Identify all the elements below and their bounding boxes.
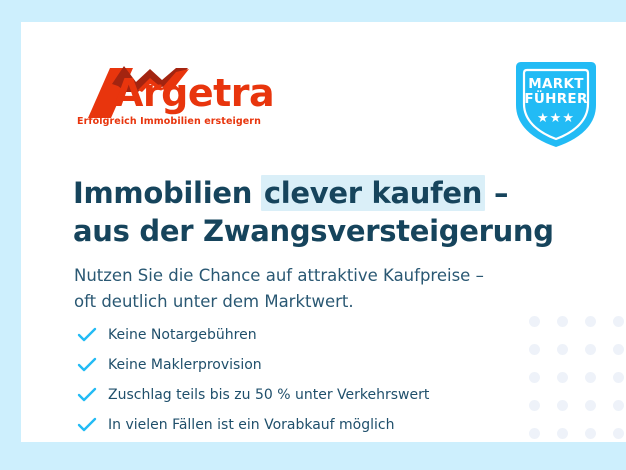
headline-line-1: Immobilien clever kaufen – bbox=[73, 175, 543, 212]
list-item: Keine Maklerprovision bbox=[77, 350, 517, 380]
dot bbox=[585, 344, 596, 355]
logo-wordmark: Argetra bbox=[114, 74, 274, 112]
dot bbox=[557, 344, 568, 355]
dot bbox=[529, 344, 540, 355]
dot bbox=[613, 428, 624, 439]
dot bbox=[529, 316, 540, 327]
list-item-label: In vielen Fällen ist ein Vorabkauf mögli… bbox=[103, 417, 395, 433]
benefits-list: Keine Notargebühren Keine Maklerprovisio… bbox=[77, 320, 517, 440]
dot bbox=[585, 316, 596, 327]
dot bbox=[557, 316, 568, 327]
dot bbox=[613, 316, 624, 327]
check-icon bbox=[77, 355, 103, 375]
check-icon bbox=[77, 385, 103, 405]
dot bbox=[557, 372, 568, 383]
dot bbox=[613, 400, 624, 411]
dot bbox=[585, 428, 596, 439]
subheadline-line-2: oft deutlich unter dem Marktwert. bbox=[74, 289, 554, 316]
list-item-label: Keine Notargebühren bbox=[103, 327, 257, 343]
dot bbox=[529, 428, 540, 439]
dot bbox=[529, 400, 540, 411]
dot bbox=[557, 400, 568, 411]
dot bbox=[529, 372, 540, 383]
subheadline: Nutzen Sie die Chance auf attraktive Kau… bbox=[74, 263, 554, 316]
argetra-logo[interactable]: Argetra Erfolgreich Immobilien ersteiger… bbox=[76, 66, 276, 134]
list-item-label: Zuschlag teils bis zu 50 % unter Verkehr… bbox=[103, 387, 429, 403]
headline-highlight: clever kaufen bbox=[261, 175, 485, 211]
check-icon bbox=[77, 415, 103, 435]
dot bbox=[557, 428, 568, 439]
dot bbox=[613, 372, 624, 383]
check-icon bbox=[77, 325, 103, 345]
dot-grid-decoration bbox=[520, 307, 626, 442]
markt-fuehrer-badge: MARKT FÜHRER ★★★ bbox=[508, 55, 604, 151]
list-item: In vielen Fällen ist ein Vorabkauf mögli… bbox=[77, 410, 517, 440]
headline-line-2: aus der Zwangsversteigerung bbox=[73, 213, 543, 250]
dot bbox=[613, 344, 624, 355]
logo-tagline: Erfolgreich Immobilien ersteigern bbox=[77, 116, 261, 127]
list-item: Zuschlag teils bis zu 50 % unter Verkehr… bbox=[77, 380, 517, 410]
outer-frame: Argetra Erfolgreich Immobilien ersteiger… bbox=[0, 0, 626, 470]
dot bbox=[585, 372, 596, 383]
headline-text-before: Immobilien bbox=[73, 176, 262, 210]
headline-text-after: – bbox=[484, 176, 508, 210]
page-title: Immobilien clever kaufen – aus der Zwang… bbox=[73, 175, 543, 249]
dot bbox=[585, 400, 596, 411]
subheadline-line-1: Nutzen Sie die Chance auf attraktive Kau… bbox=[74, 263, 554, 290]
list-item-label: Keine Maklerprovision bbox=[103, 357, 262, 373]
list-item: Keine Notargebühren bbox=[77, 320, 517, 350]
promo-card: Argetra Erfolgreich Immobilien ersteiger… bbox=[21, 22, 626, 442]
